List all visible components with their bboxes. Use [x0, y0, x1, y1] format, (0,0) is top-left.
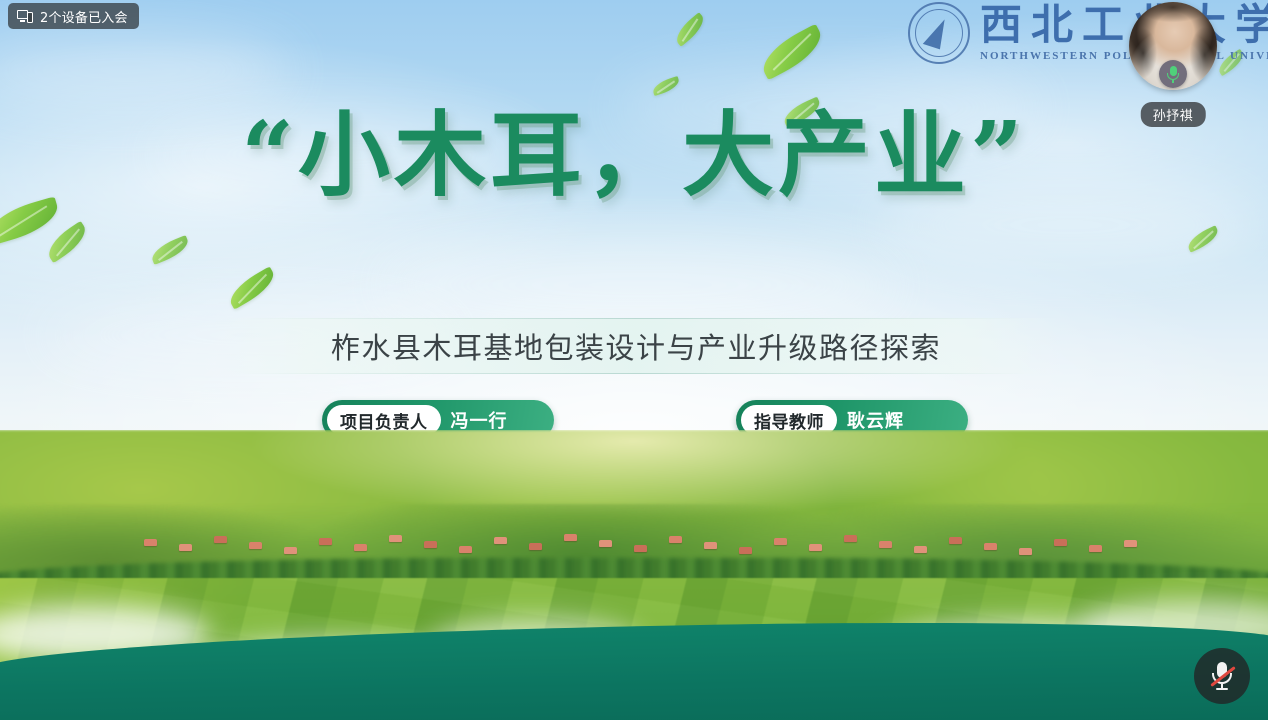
slide-subtitle: 柞水县木耳基地包装设计与产业升级路径探索 [331, 325, 941, 367]
cloud-decoration [880, 180, 1260, 270]
leaf-icon [651, 76, 681, 96]
university-seal-icon [908, 2, 970, 64]
leaf-icon [1215, 49, 1247, 77]
cloud-decoration [150, 120, 530, 190]
leaf-icon [148, 235, 191, 265]
leaf-icon [755, 24, 828, 81]
presentation-slide: 西北工业大学 NORTHWESTERN POLYTECHNICAL UNIVER… [0, 0, 1268, 720]
devices-joined-label: 2个设备已入会 [40, 7, 128, 26]
slide-title-area: “小木耳，大产业” [0, 104, 1268, 207]
screen: 西北工业大学 NORTHWESTERN POLYTECHNICAL UNIVER… [0, 0, 1268, 720]
microphone-muted-icon [1211, 662, 1233, 690]
participant-thumbnail[interactable]: 孙抒祺 [1129, 2, 1217, 90]
leaf-icon [1185, 225, 1222, 252]
cloud-decoration [0, 30, 290, 110]
university-name: 西北工业大学 NORTHWESTERN POLYTECHNICAL UNIVER… [980, 4, 1268, 62]
leaf-icon [42, 221, 91, 263]
devices-joined-badge[interactable]: 2个设备已入会 [8, 3, 139, 29]
leaf-icon [0, 196, 63, 245]
mute-toggle-button[interactable] [1194, 648, 1250, 704]
participant-name: 孙抒祺 [1141, 102, 1206, 127]
leaf-icon [224, 266, 279, 309]
devices-icon [17, 9, 33, 23]
slide-subtitle-band: 柞水县木耳基地包装设计与产业升级路径探索 [212, 318, 1060, 374]
university-name-en: NORTHWESTERN POLYTECHNICAL UNIVERSITY [980, 51, 1268, 62]
microphone-on-icon[interactable] [1159, 60, 1187, 88]
leaf-icon [671, 12, 708, 47]
cloud-decoration [380, 240, 900, 330]
cloud-decoration [620, 60, 1040, 155]
leaf-icon [780, 97, 823, 128]
slide-title: “小木耳，大产业” [241, 104, 1027, 207]
university-name-cn: 西北工业大学 [980, 4, 1268, 46]
